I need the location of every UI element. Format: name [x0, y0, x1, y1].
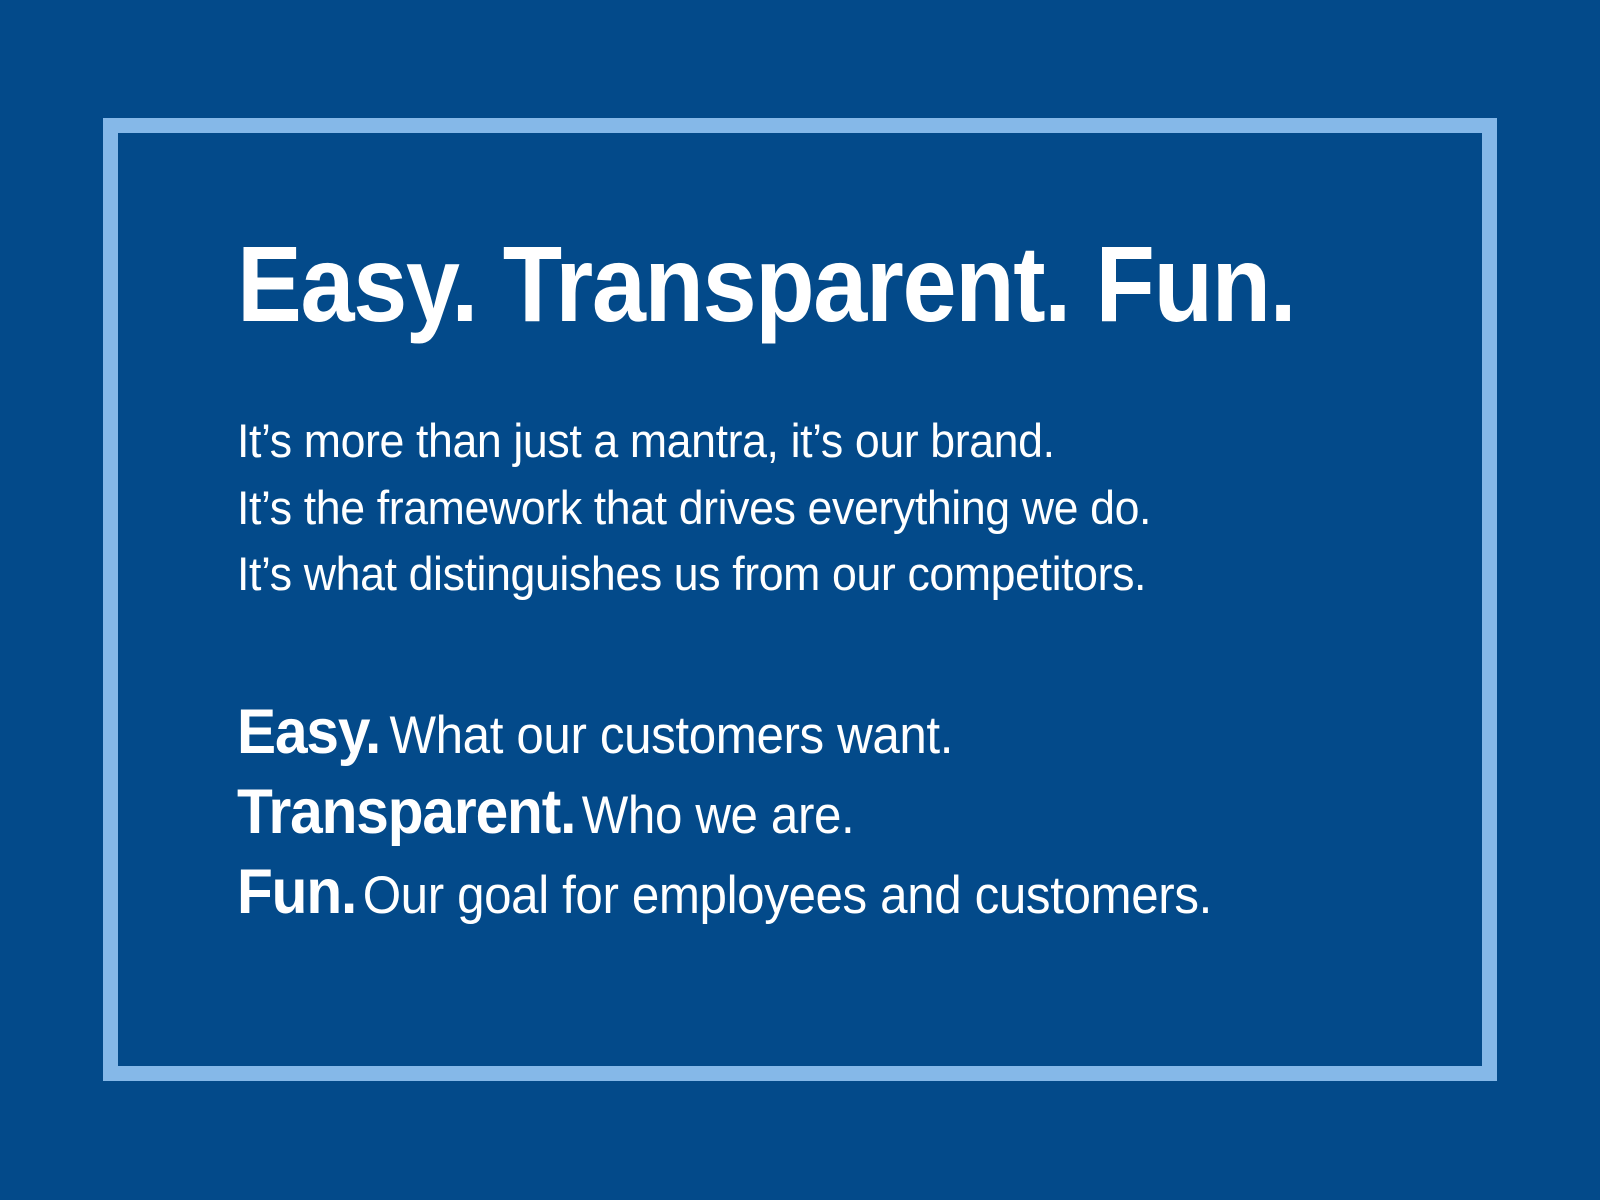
- definition-term-fun: Fun.: [237, 857, 356, 927]
- definition-row-transparent: Transparent.Who we are.: [237, 772, 1372, 852]
- definition-description-easy: What our customers want.: [380, 706, 953, 765]
- slide-canvas: Easy. Transparent. Fun. It’s more than j…: [0, 0, 1600, 1200]
- definition-term-easy: Easy.: [237, 697, 380, 767]
- definition-term-transparent: Transparent.: [237, 777, 575, 847]
- definition-row-easy: Easy.What our customers want.: [237, 692, 1372, 772]
- definition-description-transparent: Who we are.: [575, 786, 854, 845]
- intro-paragraph: It’s more than just a mantra, it’s our b…: [237, 408, 1437, 608]
- definition-description-fun: Our goal for employees and customers.: [356, 866, 1212, 925]
- intro-line-1: It’s more than just a mantra, it’s our b…: [237, 408, 1377, 475]
- intro-line-2: It’s the framework that drives everythin…: [237, 475, 1377, 542]
- page-title: Easy. Transparent. Fun.: [237, 228, 1299, 340]
- definition-row-fun: Fun.Our goal for employees and customers…: [237, 852, 1372, 932]
- definitions-list: Easy.What our customers want. Transparen…: [237, 692, 1457, 932]
- intro-line-3: It’s what distinguishes us from our comp…: [237, 541, 1377, 608]
